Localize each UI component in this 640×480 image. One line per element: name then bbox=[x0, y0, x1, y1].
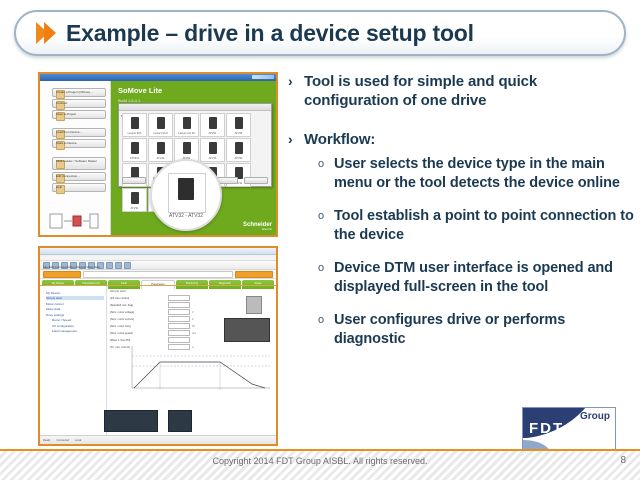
tree-node[interactable]: Drive settings bbox=[46, 313, 104, 317]
sidebar-button-label: Create a Project (Off-line)... bbox=[56, 90, 103, 94]
sidebar-button-load-from-device[interactable]: Load from Device... bbox=[52, 128, 106, 137]
parameter-group-title: Simply start bbox=[110, 289, 273, 293]
bullet-text: Device DTM user interface is opened and … bbox=[334, 259, 634, 297]
somove-titlebar bbox=[40, 74, 276, 81]
sidebar-button-label: Edit Connection... bbox=[56, 174, 103, 178]
toolbar-icon[interactable] bbox=[124, 262, 131, 269]
parameter-unit: V bbox=[192, 311, 194, 314]
wiring-diagram-row bbox=[104, 410, 270, 432]
sidebar-button-multi-loader[interactable]: Multi-Loader / Software Master bbox=[52, 157, 106, 170]
dialog-button[interactable] bbox=[244, 177, 268, 184]
dtm-window: SoMove Lite - ATV32 Device DTM File Edit… bbox=[40, 248, 276, 444]
dialog-button[interactable] bbox=[122, 177, 146, 184]
terminal-wiring-photo-2 bbox=[168, 410, 192, 432]
tree-node[interactable]: Ramp / Speed bbox=[52, 318, 104, 322]
sidebar-button-create-project[interactable]: Create a Project (Off-line)... bbox=[52, 88, 106, 97]
drive-photo bbox=[224, 318, 270, 342]
toolbar-icon[interactable] bbox=[106, 262, 113, 269]
bullet-item-1: › Tool is used for simple and quick conf… bbox=[288, 72, 634, 110]
circle-bullet-icon: o bbox=[318, 259, 334, 297]
status-item: Ready bbox=[43, 439, 51, 442]
fdt-group-word: Group bbox=[580, 411, 610, 422]
parameter-input[interactable] bbox=[168, 323, 190, 329]
sidebar-button-edit-connection[interactable]: Edit Connection... bbox=[52, 172, 106, 181]
dtm-menu-labels: File Edit Communication Device View Help bbox=[43, 265, 100, 269]
device-cell[interactable]: Lexium 32A bbox=[122, 113, 147, 137]
dtm-menubar[interactable]: File Edit Communication Device View Help bbox=[40, 255, 276, 261]
sub-bullet-item-2: o Tool establish a point to point connec… bbox=[318, 207, 634, 245]
device-icon bbox=[43, 271, 81, 278]
sidebar-button-label: Help bbox=[56, 185, 103, 189]
device-cell[interactable]: Lexium SCU bbox=[148, 113, 173, 137]
window-controls-icon[interactable] bbox=[252, 75, 274, 79]
sidebar-button-label: Load from Device... bbox=[56, 130, 103, 134]
parameter-input[interactable] bbox=[168, 337, 190, 343]
screenshot-somove-lite: SoMove Lite Build 1.6.4.1 Schneider Elec… bbox=[38, 72, 278, 237]
parameter-label: [Nom. motor freq.] bbox=[110, 325, 166, 328]
fdt-wordmark: FDT bbox=[529, 420, 564, 437]
somove-sidebar: Create a Project (Off-line)... Connect O… bbox=[40, 81, 111, 235]
dtm-address-bar bbox=[40, 270, 276, 279]
bullet-text: Workflow: bbox=[304, 130, 375, 149]
chevron-bullet-icon: › bbox=[288, 72, 304, 110]
device-cell[interactable]: Lexium CU 32 bbox=[174, 113, 199, 137]
tree-node[interactable]: Fault management bbox=[52, 329, 104, 333]
status-item: Connected bbox=[57, 439, 70, 442]
parameter-unit: Hz bbox=[192, 325, 195, 328]
somove-body: SoMove Lite Build 1.6.4.1 Schneider Elec… bbox=[40, 81, 276, 235]
slide: Example – drive in a device setup tool S… bbox=[0, 0, 640, 480]
parameter-input[interactable] bbox=[168, 316, 190, 322]
bullet-list: › Tool is used for simple and quick conf… bbox=[288, 72, 634, 363]
parameter-input[interactable] bbox=[168, 302, 190, 308]
tree-node-selected[interactable]: Simply start bbox=[46, 296, 104, 300]
double-chevron-icon bbox=[36, 22, 52, 44]
sidebar-button-store-to-device[interactable]: Store to Device bbox=[52, 139, 106, 148]
sub-bullet-item-3: o Device DTM user interface is opened an… bbox=[318, 259, 634, 297]
sub-bullet-item-4: o User configures drive or performs diag… bbox=[318, 311, 634, 349]
device-cell[interactable]: ATV32 bbox=[226, 138, 251, 162]
tree-node[interactable]: Motor control bbox=[46, 302, 104, 306]
parameter-label: [2/3 wire control] bbox=[110, 297, 166, 300]
tree-node[interactable]: I/O configuration bbox=[52, 324, 104, 328]
device-cell[interactable]: ATV71 bbox=[200, 138, 225, 162]
device-cell[interactable]: ATV12 bbox=[148, 138, 173, 162]
workflow-doodle-icon bbox=[48, 211, 100, 231]
schneider-logo: Schneider Electric bbox=[243, 222, 272, 231]
tree-node[interactable]: My Device bbox=[46, 291, 104, 295]
parameter-unit: A bbox=[192, 318, 194, 321]
circle-bullet-icon: o bbox=[318, 207, 334, 245]
schneider-sub: Electric bbox=[243, 228, 272, 231]
parameter-label: [Nom. motor voltage] bbox=[110, 311, 166, 314]
bullet-text: Tool establish a point to point connecti… bbox=[334, 207, 634, 245]
page-number: 8 bbox=[620, 455, 626, 466]
parameter-input[interactable] bbox=[168, 295, 190, 301]
bullet-text: Tool is used for simple and quick config… bbox=[304, 72, 634, 110]
sidebar-button-open-project[interactable]: Open a Project bbox=[52, 110, 106, 119]
chevron-bullet-icon: › bbox=[288, 130, 304, 149]
terminal-wiring-photo bbox=[104, 410, 158, 432]
sidebar-button-help[interactable]: Help bbox=[52, 183, 106, 192]
sidebar-button-label: Multi-Loader / Software Master bbox=[56, 160, 103, 163]
magnifier-callout: ATV32 - ATV32 bbox=[150, 159, 222, 231]
page-title: Example – drive in a device setup tool bbox=[66, 20, 474, 47]
parameter-input[interactable] bbox=[168, 330, 190, 336]
copyright-text: Copyright 2014 FDT Group AISBL. All righ… bbox=[0, 456, 640, 466]
sub-bullet-item-1: o User selects the device type in the ma… bbox=[318, 155, 634, 193]
parameter-label: [Nom. motor speed] bbox=[110, 332, 166, 335]
tree-node[interactable]: Motor data bbox=[46, 307, 104, 311]
toolbar-icon[interactable] bbox=[115, 262, 122, 269]
sidebar-button-label: Connect bbox=[56, 101, 103, 105]
parameter-label: [Motor 1 Cos Phi] bbox=[110, 339, 166, 342]
device-cell[interactable]: ATV312 bbox=[122, 138, 147, 162]
device-address-input[interactable] bbox=[83, 271, 233, 278]
device-cell[interactable]: ATV21 bbox=[200, 113, 225, 137]
drive-device-icon bbox=[178, 178, 194, 200]
bullet-text: User configures drive or performs diagno… bbox=[334, 311, 634, 349]
screenshot-device-dtm: SoMove Lite - ATV32 Device DTM File Edit… bbox=[38, 246, 278, 446]
magnified-device-card bbox=[168, 173, 206, 213]
sidebar-button-label: Open a Project bbox=[56, 112, 103, 116]
dtm-status-bar: Ready Connected Local bbox=[40, 435, 276, 444]
ramp-profile-chart bbox=[102, 344, 272, 396]
slide-title-banner: Example – drive in a device setup tool bbox=[14, 10, 626, 56]
sidebar-button-label: Store to Device bbox=[56, 141, 103, 145]
parameter-input[interactable] bbox=[168, 309, 190, 315]
bullet-text: User selects the device type in the main… bbox=[334, 155, 634, 193]
footer: Copyright 2014 FDT Group AISBL. All righ… bbox=[0, 451, 640, 480]
motor-photo bbox=[246, 296, 262, 314]
bullet-item-2: › Workflow: bbox=[288, 130, 634, 149]
status-item: Local bbox=[75, 439, 81, 442]
connect-state-badge bbox=[235, 271, 273, 278]
parameter-label: [Nom. motor current] bbox=[110, 318, 166, 321]
parameter-label: [Standard mot. freq] bbox=[110, 304, 166, 307]
parameter-unit: rpm bbox=[192, 332, 196, 335]
magnified-device-label: ATV32 - ATV32 bbox=[152, 213, 220, 219]
device-cell[interactable]: ATV32 bbox=[226, 113, 251, 137]
circle-bullet-icon: o bbox=[318, 155, 334, 193]
sidebar-button-connect[interactable]: Connect bbox=[52, 99, 106, 108]
circle-bullet-icon: o bbox=[318, 311, 334, 349]
dtm-navigation-tree: My Device Simply start Motor control Mot… bbox=[40, 286, 107, 436]
dialog-titlebar: Device selection bbox=[119, 104, 271, 111]
dtm-titlebar: SoMove Lite - ATV32 Device DTM bbox=[40, 248, 276, 255]
device-cell[interactable]: ATV31 bbox=[122, 188, 147, 212]
somove-app-title: SoMove Lite bbox=[118, 86, 162, 95]
